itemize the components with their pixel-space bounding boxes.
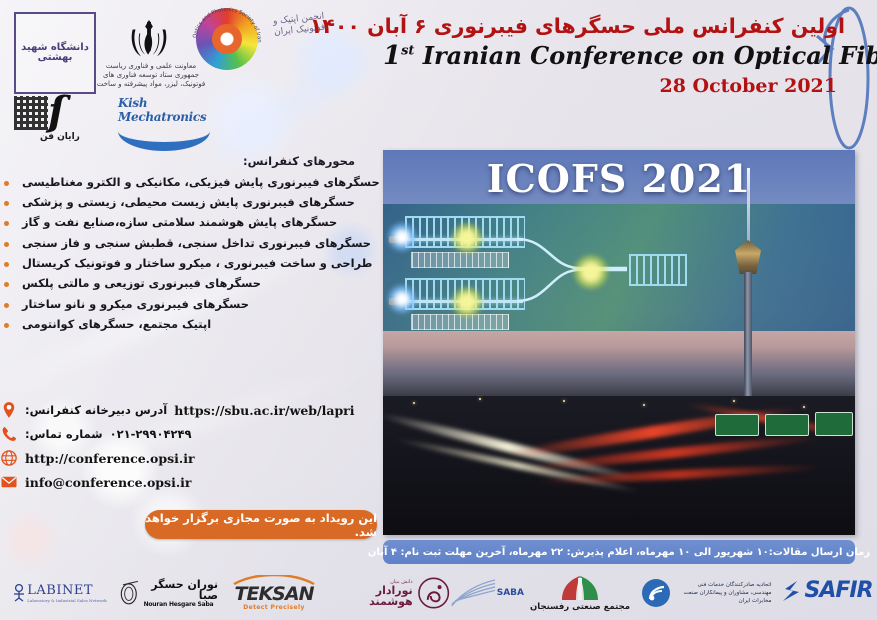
sponsor-telecom-union: اتحادیه صادرکنندگان خدمات فنی مهندسی، مش… [636, 570, 776, 616]
rayan-fan-label: رایان فن [40, 132, 80, 142]
city-light [479, 398, 481, 400]
topics-heading: محورهای کنفرانس: [0, 150, 383, 172]
tower-pod [735, 240, 761, 274]
topic-item: حسگرهای پایش هوشمند سلامتی سازه،صنایع نف… [0, 213, 383, 233]
deadline-bar: زمان ارسال مقالات:۱۰ شهریور الی ۱۰ مهرما… [383, 540, 855, 564]
city-light [733, 400, 735, 402]
topic-item: حسگرهای فیبرنوری میکرو و نانو ساختار [0, 294, 383, 314]
title-date-english: 28 October 2021 [383, 75, 853, 97]
contact-email-value[interactable]: info@conference.opsi.ir [25, 475, 192, 490]
sponsor-safir: SAFIR [776, 570, 876, 616]
envelope-icon [0, 473, 18, 491]
light-glow [387, 284, 417, 314]
sponsor-noradar-hooshmand: دانش بنیان نورادار هوشمند [330, 570, 450, 616]
sponsor-teksan: TEKSAN Detect Precisely [218, 570, 330, 616]
topic-label: اپتیک مجتمع، حسگرهای کوانتومی [18, 317, 211, 332]
topic-item: حسگرهای فیبرنوری پایش فیزیکی، مکانیکی و … [0, 172, 383, 192]
topic-label: حسگرهای فیبرنوری پایش فیزیکی، مکانیکی و … [18, 175, 380, 190]
kish-mechatronics-wordmark: Kish Mechatronics [118, 96, 218, 124]
topic-label: حسگرهای فیبرنوری پایش زیست محیطی، زیستی … [18, 195, 355, 210]
kish-swoosh-icon [118, 122, 210, 151]
saba-wordmark: SABA [497, 588, 524, 598]
nouran-wordmark-fa: نوران حسگر صبا [144, 579, 218, 601]
sponsor-saba-university: SABA [450, 570, 524, 616]
title-ordinal: 1st [383, 41, 414, 71]
phone-icon [0, 425, 18, 443]
bullet-icon [4, 282, 9, 287]
topic-label: حسگرهای پایش هوشمند سلامتی سازه،صنایع نف… [18, 215, 337, 230]
night-highway-photo [383, 396, 855, 535]
nouran-wordmark-en: Nouran Hesgare Saba [144, 601, 218, 608]
topic-label: حسگرهای فیبرنوری تداخل سنجی، قطبش سنجی و… [18, 236, 371, 251]
sponsor-strip: LABINET Laboratory & Industrial Sales Ne… [0, 566, 877, 620]
telecom-union-caption: اتحادیه صادرکنندگان خدمات فنی مهندسی، مش… [676, 581, 772, 606]
city-light [563, 400, 565, 402]
title-block: اولین کنفرانس ملی حسگرهای فیبرنوری ۶ آبا… [383, 14, 853, 97]
highway-signboard [715, 414, 759, 436]
rayan-qr-pattern [14, 96, 48, 130]
safir-mark-icon [779, 579, 803, 603]
noradar-wordmark: نورادار هوشمند [330, 585, 413, 607]
virtual-event-text: این رویداد به صورت مجازی برگزار خواهد شد… [145, 511, 377, 539]
topic-item: اپتیک مجتمع، حسگرهای کوانتومی [0, 315, 383, 335]
city-light [643, 404, 645, 406]
deadline-text: زمان ارسال مقالات:۱۰ شهریور الی ۱۰ مهرما… [368, 547, 870, 558]
labinet-subtitle: Laboratory & Industrial Sales Network [27, 598, 106, 603]
grating-block [411, 252, 509, 268]
teksan-wordmark: TEKSAN [235, 585, 314, 604]
icofs-headline: ICOFS 2021 [383, 156, 855, 201]
rayan-mark-glyph: ſ [48, 92, 65, 132]
topics-section: محورهای کنفرانس: حسگرهای فیبرنوری پایش ف… [0, 150, 383, 335]
contact-address-url[interactable]: https://sbu.ac.ir/web/lapri [174, 403, 354, 418]
light-glow [451, 286, 483, 318]
topic-label: حسگرهای فیبرنوری میکرو و نانو ساختار [18, 297, 249, 312]
bullet-icon [4, 323, 9, 328]
teksan-tagline: Detect Precisely [243, 604, 305, 611]
shahid-beheshti-university-logo: دانشگاه شهید بهشتی [14, 12, 96, 94]
city-light [803, 406, 805, 408]
milad-tower-graphic [731, 168, 765, 418]
location-pin-icon [0, 401, 18, 419]
bullet-icon [4, 262, 9, 267]
saba-rays-icon [450, 576, 497, 610]
safir-wordmark: SAFIR [804, 580, 872, 602]
highway-signboard [765, 414, 809, 436]
safir-tagline [825, 603, 828, 608]
rafsanjan-emblem-icon [558, 575, 602, 601]
bullet-icon [4, 201, 9, 206]
contact-row-email: info@conference.opsi.ir [0, 470, 383, 494]
kish-mechatronics-logo: Kish Mechatronics [118, 96, 218, 136]
city-light [413, 402, 415, 404]
topic-item: حسگرهای فیبرنوری تداخل سنجی، قطبش سنجی و… [0, 233, 383, 253]
bullet-icon [4, 242, 9, 247]
contact-row-address: https://sbu.ac.ir/web/lapri آدرس دبیرخان… [0, 398, 383, 422]
bullet-icon [4, 181, 9, 186]
photonic-integrated-circuit-graphic [387, 210, 687, 340]
contact-row-website: http://conference.opsi.ir [0, 446, 383, 470]
sbu-logo-text: دانشگاه شهید بهشتی [16, 43, 94, 64]
rafsanjan-wordmark: مجتمع صنعتی رفسنجان [530, 602, 630, 612]
virtual-event-notice: این رویداد به صورت مجازی برگزار خواهد شد… [145, 510, 377, 539]
sponsor-nouran-hesgare-saba: نوران حسگر صبا Nouran Hesgare Saba [118, 570, 218, 616]
contact-address-label: آدرس دبیرخانه کنفرانس: [25, 403, 167, 417]
contact-row-phone: ۰۲۱-۲۹۹۰۴۲۴۹ شماره تماس: [0, 422, 383, 446]
globe-icon [0, 449, 18, 467]
poster-artwork-panel: ICOFS 2021 [383, 150, 855, 535]
contact-website-url[interactable]: http://conference.opsi.ir [25, 451, 195, 466]
light-glow [387, 222, 417, 252]
contact-phone-label: شماره تماس: [25, 427, 103, 441]
topic-label: طراحی و ساخت فیبرنوری ، میکرو ساختار و ف… [18, 256, 372, 271]
highway-signboard [815, 412, 853, 436]
topic-item: طراحی و ساخت فیبرنوری ، میکرو ساختار و ف… [0, 254, 383, 274]
labinet-mark-icon [11, 583, 27, 603]
topic-item: حسگرهای فیبرنوری توزیعی و مالتی پلکس [0, 274, 383, 294]
topic-label: حسگرهای فیبرنوری توزیعی و مالتی پلکس [18, 276, 261, 291]
conference-poster: دانشگاه شهید بهشتی معاونت علمی و فناوری … [0, 0, 877, 620]
svg-text:Optics and Photonics Society o: Optics and Photonics Society of Iran [192, 7, 262, 43]
opsi-ring-text: Optics and Photonics Society of Iran [188, 2, 266, 80]
telecom-union-icon [641, 578, 671, 608]
sponsor-labinet: LABINET Laboratory & Industrial Sales Ne… [0, 570, 118, 616]
bullet-icon [4, 303, 9, 308]
labinet-wordmark: LABINET Laboratory & Industrial Sales Ne… [27, 583, 106, 603]
title-english-text: Iranian Conference on Optical Fiber Sens… [423, 41, 877, 70]
contact-section: https://sbu.ac.ir/web/lapri آدرس دبیرخان… [0, 398, 383, 494]
nouran-coil-icon [118, 578, 140, 608]
topic-item: حسگرهای فیبرنوری پایش زیست محیطی، زیستی … [0, 192, 383, 212]
bullet-icon [4, 221, 9, 226]
noradar-seal-icon [417, 576, 450, 610]
light-glow [451, 222, 483, 254]
title-english: 1st Iranian Conference on Optical Fiber … [383, 41, 853, 72]
waveguide-meander-output [629, 254, 687, 286]
title-persian: اولین کنفرانس ملی حسگرهای فیبرنوری ۶ آبا… [383, 14, 853, 40]
contact-phone-value[interactable]: ۰۲۱-۲۹۹۰۴۲۴۹ [110, 427, 192, 441]
sponsor-rafsanjan-industrial-complex: مجتمع صنعتی رفسنجان [524, 570, 636, 616]
rayan-fan-logo: ſ رایان فن [14, 92, 110, 142]
y-coupler-graphic [517, 230, 627, 310]
light-glow [573, 254, 609, 290]
